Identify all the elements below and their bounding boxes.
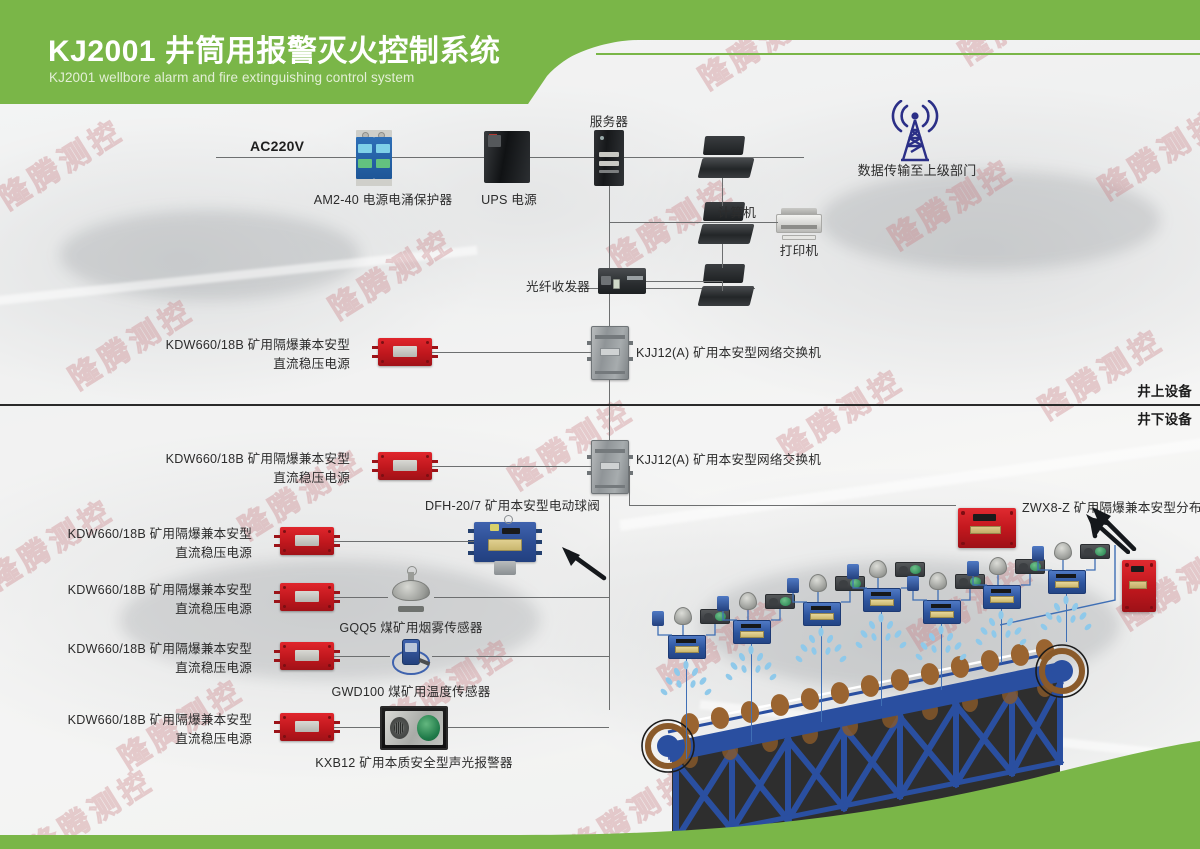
alarm-to-trunk-line bbox=[448, 727, 609, 728]
printer-device bbox=[776, 207, 822, 241]
computer-device bbox=[700, 136, 752, 178]
power-supply-device bbox=[378, 452, 432, 480]
power-supply-label-line1: KDW660/18B 矿用隔爆兼本安型 bbox=[68, 640, 252, 659]
underground-trunk-line bbox=[609, 494, 610, 710]
ps4-to-temp-line bbox=[334, 656, 390, 657]
smoke-sensor-device bbox=[388, 572, 434, 614]
ground-divider bbox=[0, 404, 1200, 406]
power-supply-label: KDW660/18B 矿用隔爆兼本安型 直流稳压电源 bbox=[166, 336, 350, 374]
footer-decoration bbox=[0, 739, 1200, 849]
converter-label: 光纤收发器 bbox=[526, 279, 590, 296]
power-supply-label-line1: KDW660/18B 矿用隔爆兼本安型 bbox=[68, 525, 252, 544]
computer-label: 计算机 bbox=[718, 205, 756, 222]
temp-sensor-label: GWD100 煤矿用温度传感器 bbox=[331, 684, 490, 701]
valve-label: DFH-20/7 矿用本安型电动球阀 bbox=[425, 498, 600, 515]
power-supply-device bbox=[280, 527, 334, 555]
ups-label: UPS 电源 bbox=[481, 192, 537, 209]
spray-drops bbox=[721, 644, 785, 686]
power-to-switch-line bbox=[432, 352, 591, 353]
page-subtitle: KJ2001 wellbore alarm and fire extinguis… bbox=[49, 70, 414, 85]
pointer-arrow-icon bbox=[556, 544, 608, 582]
printer-label: 打印机 bbox=[780, 243, 818, 260]
power-to-switch-line bbox=[432, 466, 591, 467]
temperature-sensor-device bbox=[390, 635, 432, 679]
computer-stack-line bbox=[722, 244, 723, 268]
server-device bbox=[594, 130, 624, 186]
spd-label: AM2-40 电源电涌保护器 bbox=[314, 192, 453, 209]
server-label: 服务器 bbox=[590, 114, 628, 131]
power-supply-device bbox=[378, 338, 432, 366]
power-supply-label: KDW660/18B 矿用隔爆兼本安型 直流稳压电源 bbox=[68, 640, 252, 678]
fiber-converter-device bbox=[598, 268, 646, 294]
smoke-to-trunk-line bbox=[434, 597, 609, 598]
power-supply-label: KDW660/18B 矿用隔爆兼本安型 直流稳压电源 bbox=[68, 581, 252, 619]
power-supply-label-line2: 直流稳压电源 bbox=[68, 544, 252, 563]
spray-drops bbox=[971, 609, 1035, 651]
underground-switch-label: KJJ12(A) 矿用本安型网络交换机 bbox=[636, 452, 821, 469]
valve-actuator bbox=[494, 561, 516, 575]
cluster-wiring bbox=[1030, 540, 1150, 600]
power-supply-label-line2: 直流稳压电源 bbox=[166, 469, 350, 488]
power-supply-device bbox=[280, 713, 334, 741]
ps2-to-valve-line bbox=[334, 541, 474, 542]
bg-shade bbox=[820, 170, 1160, 270]
power-supply-device bbox=[280, 642, 334, 670]
spray-drops bbox=[1036, 594, 1100, 636]
page-title: KJ2001 井筒用报警灭火控制系统 bbox=[48, 26, 500, 70]
power-supply-label-line1: KDW660/18B 矿用隔爆兼本安型 bbox=[68, 581, 252, 600]
power-supply-label-line2: 直流稳压电源 bbox=[68, 659, 252, 678]
computer-stack-line bbox=[722, 178, 723, 206]
temp-to-trunk-line bbox=[432, 656, 609, 657]
switch-to-fiberhost-line bbox=[629, 505, 956, 506]
printer-link-line bbox=[752, 222, 778, 223]
converter-drop-line bbox=[722, 281, 723, 291]
converter-to-computer-line bbox=[646, 281, 722, 282]
antenna-icon bbox=[885, 100, 945, 162]
ups-device bbox=[484, 131, 530, 183]
spray-cluster bbox=[1030, 540, 1150, 730]
switch-right-drop bbox=[629, 466, 630, 506]
network-switch-device bbox=[591, 326, 629, 380]
power-supply-label-line2: 直流稳压电源 bbox=[68, 600, 252, 619]
computer-device bbox=[700, 264, 752, 306]
electric-ball-valve-device bbox=[474, 522, 536, 562]
power-supply-label-line1: KDW660/18B 矿用隔爆兼本安型 bbox=[166, 336, 350, 355]
power-supply-label: KDW660/18B 矿用隔爆兼本安型 直流稳压电源 bbox=[166, 450, 350, 488]
power-supply-label-line1: KDW660/18B 矿用隔爆兼本安型 bbox=[68, 711, 252, 730]
power-supply-label: KDW660/18B 矿用隔爆兼本安型 直流稳压电源 bbox=[68, 525, 252, 563]
server-downlink-line bbox=[609, 186, 610, 336]
power-supply-device bbox=[280, 583, 334, 611]
below-ground-label: 井下设备 bbox=[1137, 411, 1192, 428]
uplink-label: 数据传输至上级部门 bbox=[858, 162, 977, 179]
power-bus-line bbox=[216, 157, 606, 158]
ac-input-label: AC220V bbox=[250, 138, 304, 155]
surge-protector-device bbox=[356, 130, 392, 186]
ps3-to-smoke-line bbox=[334, 597, 388, 598]
ps5-to-alarm-line bbox=[334, 727, 380, 728]
above-ground-label: 井上设备 bbox=[1137, 383, 1192, 400]
spray-drops bbox=[656, 659, 720, 701]
diagram-canvas: 隆腾测控 隆腾测控 隆腾测控 隆腾测控 隆腾测控 隆腾测控 隆腾测控 隆腾测控 … bbox=[0, 0, 1200, 849]
power-supply-label-line2: 直流稳压电源 bbox=[166, 355, 350, 374]
header-accent-line bbox=[596, 53, 1200, 55]
power-supply-label-line1: KDW660/18B 矿用隔爆兼本安型 bbox=[166, 450, 350, 469]
surface-switch-label: KJJ12(A) 矿用本安型网络交换机 bbox=[636, 345, 821, 362]
underground-switch-device bbox=[591, 440, 629, 494]
